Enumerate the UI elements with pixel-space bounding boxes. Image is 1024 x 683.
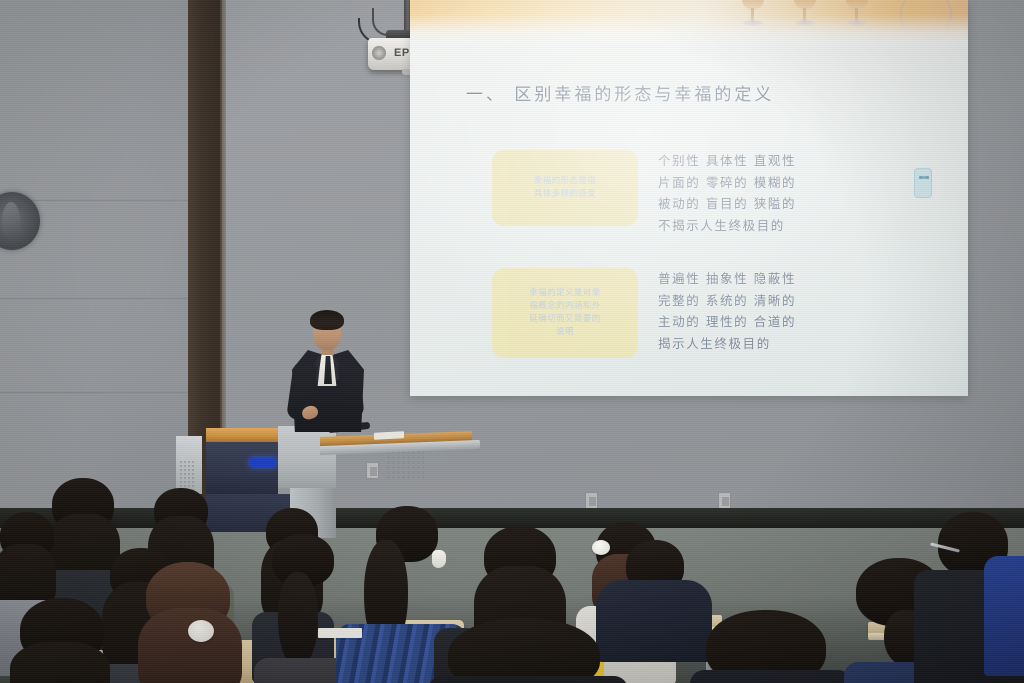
attr-2-line-4: 揭示人生终极目的 [658, 333, 958, 355]
projection-screen: 一、 区别幸福的形态与幸福的定义 幸福的形态是指 具体多样的感受 个别性 具体性… [410, 0, 968, 396]
presenter [284, 310, 384, 440]
slide-banner-fade [410, 14, 968, 48]
lecture-hall-photo: EPSON 一、 区别幸福的形态与幸福的定义 幸福的形态是指 具体多样的感受 [0, 0, 1024, 683]
attr-2-line-3: 主动的 理性的 合道的 [658, 311, 958, 333]
callout-2-line-2: 福概念的内涵和外 [529, 300, 600, 313]
navy-hoodie [596, 580, 712, 662]
projector-lens-icon [372, 46, 386, 60]
face-mask-icon-2 [432, 550, 446, 568]
hair-scrunchie-icon [592, 540, 610, 555]
slide-corner-badge-icon [914, 168, 932, 198]
paper-on-desk [318, 628, 362, 638]
lectern-led-display [250, 458, 276, 467]
attr-1-line-4: 不揭示人生终极目的 [658, 215, 958, 237]
wall-seam-bottom [0, 392, 192, 393]
attr-1-line-2: 片面的 零碎的 模糊的 [658, 172, 958, 194]
callout-2-line-3: 延确切而又简要的 [529, 313, 600, 326]
slide-heading: 一、 区别幸福的形态与幸福的定义 [466, 80, 774, 105]
callout-1-line-2: 具体多样的感受 [534, 188, 596, 201]
attr-2-line-2: 完整的 系统的 清晰的 [658, 290, 958, 312]
attr-2-line-1: 普遍性 抽象性 隐蔽性 [658, 268, 958, 290]
hair-scrunchie-icon-2 [188, 620, 214, 642]
slide-callout-1: 幸福的形态是指 具体多样的感受 [492, 150, 638, 226]
wall-seam-lower [0, 298, 192, 299]
callout-1-line-1: 幸福的形态是指 [534, 175, 596, 188]
left-wall-panel [0, 0, 190, 525]
audience-area [0, 470, 1024, 683]
callout-2-line-1: 幸福的定义是对幸 [529, 287, 600, 300]
blue-jacket-edge [984, 556, 1024, 676]
slide-callout-2: 幸福的定义是对幸 福概念的内涵和外 延确切而又简要的 说明 [492, 268, 638, 358]
callout-2-line-4: 说明 [556, 326, 574, 339]
slide-attributes-1: 个别性 具体性 直观性 片面的 零碎的 模糊的 被动的 盲目的 狭隘的 不揭示人… [658, 150, 958, 236]
attr-1-line-1: 个别性 具体性 直观性 [658, 150, 958, 172]
attr-1-line-3: 被动的 盲目的 狭隘的 [658, 193, 958, 215]
slide-attributes-2: 普遍性 抽象性 隐蔽性 完整的 系统的 清晰的 主动的 理性的 合道的 揭示人生… [658, 268, 958, 354]
lectern-left-wood-top [206, 428, 278, 442]
presenter-hair [310, 310, 344, 330]
